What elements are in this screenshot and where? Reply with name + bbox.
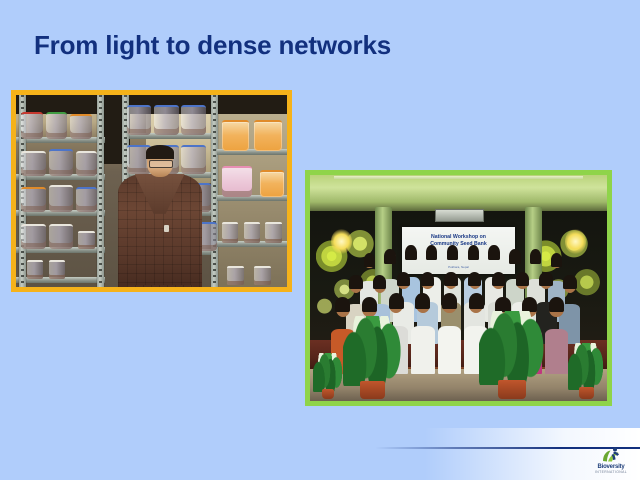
hall-ceiling	[310, 175, 607, 211]
person-in-gho	[119, 147, 200, 287]
plant-leaves	[568, 343, 604, 390]
page-title: From light to dense networks	[34, 30, 391, 61]
person-lower-robe	[127, 285, 193, 287]
seed-container	[76, 151, 98, 176]
ceiling-light-panel	[334, 176, 584, 179]
person-glasses	[149, 160, 173, 168]
plant-leaves	[343, 316, 402, 386]
seed-container	[78, 231, 94, 248]
banner-line-3: Pokhara, Nepal	[402, 265, 515, 269]
presentation-slide: From light to dense networks	[0, 0, 640, 480]
decorated-seed-container	[260, 170, 284, 197]
seed-container	[49, 224, 73, 249]
seed-container	[76, 187, 98, 212]
decorated-seed-container	[254, 120, 281, 151]
seed-container	[181, 105, 205, 136]
shelf-upright	[211, 95, 218, 287]
workshop-group-photo[interactable]: National Workshop on Community Seed Bank…	[305, 170, 612, 406]
seed-container	[21, 224, 45, 249]
ceiling-vent	[435, 209, 485, 222]
seed-container	[222, 222, 238, 243]
workshop-photo-content: National Workshop on Community Seed Bank…	[310, 175, 607, 401]
seed-container	[21, 187, 45, 212]
person-seated	[545, 329, 569, 374]
potted-plant	[343, 317, 402, 398]
seed-container	[21, 151, 45, 176]
seed-container	[27, 260, 43, 279]
stage-lamp	[331, 229, 352, 254]
seed-container	[154, 105, 178, 136]
plant-leaves	[313, 353, 343, 392]
seed-container	[21, 112, 43, 139]
plant-pot	[322, 389, 334, 399]
plant-pot	[579, 387, 594, 399]
person-hair	[146, 145, 174, 159]
potted-plant	[313, 354, 343, 399]
potted-plant	[568, 345, 604, 399]
decorated-seed-container	[222, 120, 249, 151]
plant-pot	[498, 380, 525, 399]
seed-container	[70, 114, 92, 139]
seed-container	[227, 266, 243, 285]
seed-container	[49, 185, 73, 212]
person-plant-icon	[600, 446, 622, 464]
plant-pot	[360, 381, 385, 399]
bioversity-logo: Bioversity INTERNATIONAL	[588, 446, 634, 476]
seed-container	[49, 149, 73, 176]
seed-container	[244, 222, 260, 243]
shelf-upright	[97, 95, 104, 287]
person-badge	[164, 225, 169, 232]
seed-container	[49, 260, 65, 279]
potted-plant	[479, 313, 544, 399]
person-seated	[411, 326, 435, 373]
seed-container	[254, 266, 270, 285]
seed-store-photo[interactable]	[11, 90, 292, 292]
decorated-seed-container	[222, 166, 252, 197]
seed-store-photo-content	[16, 95, 287, 287]
seed-container	[127, 105, 151, 136]
plant-leaves	[479, 311, 544, 385]
seed-container	[265, 222, 281, 243]
seed-container	[46, 112, 68, 139]
banner-line-1: National Workshop on	[405, 234, 512, 242]
logo-subtitle: INTERNATIONAL	[588, 470, 634, 474]
person-seated	[438, 326, 462, 373]
